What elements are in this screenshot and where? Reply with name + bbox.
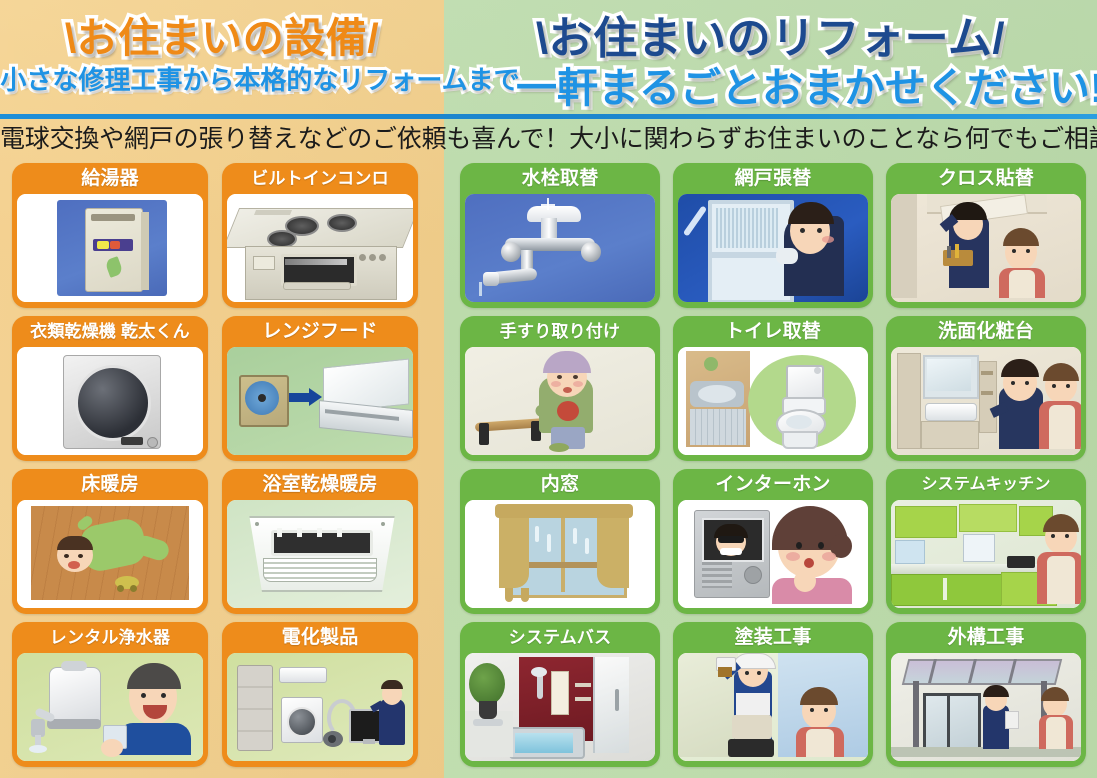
equipment-card-grid: 給湯器 ビルトインコンロ: [12, 163, 432, 767]
card-title: 床暖房: [12, 469, 208, 500]
card-image: [465, 347, 655, 455]
card-painting-work[interactable]: 塗装工事: [673, 622, 873, 767]
card-title: 給湯器: [12, 163, 208, 194]
handrail-art: [465, 347, 655, 455]
card-image: [678, 500, 868, 608]
home-appliances-art: [227, 653, 413, 761]
card-builtin-stove[interactable]: ビルトインコンロ: [222, 163, 418, 308]
header: \お住まいの設備/ \お住まいのリフォーム/ 小さな修理工事から本格的なリフォー…: [0, 0, 1097, 120]
card-image: [678, 347, 868, 455]
card-image: [17, 347, 203, 455]
card-title: 洗面化粧台: [886, 316, 1086, 347]
card-water-heater[interactable]: 給湯器: [12, 163, 208, 308]
vanity-art: [891, 347, 1081, 455]
card-bath-dryer[interactable]: 浴室乾燥暖房: [222, 469, 418, 614]
card-image: [17, 194, 203, 302]
card-title: システムキッチン: [886, 469, 1086, 500]
inner-window-art: [465, 500, 655, 608]
card-title: システムバス: [460, 622, 660, 653]
card-image: [891, 653, 1081, 761]
card-title: 浴室乾燥暖房: [222, 469, 418, 500]
reform-card-grid: 水栓取替 網戸張替: [460, 163, 1086, 767]
card-title: 外構工事: [886, 622, 1086, 653]
card-title: 手すり取り付け: [460, 316, 660, 347]
card-handrail-install[interactable]: 手すり取り付け: [460, 316, 660, 461]
card-title: インターホン: [673, 469, 873, 500]
floor-heating-art: [17, 500, 203, 608]
system-bath-art: [465, 653, 655, 761]
card-image: [678, 653, 868, 761]
card-image: [465, 500, 655, 608]
card-title: クロス貼替: [886, 163, 1086, 194]
right-subheadline: 一軒まるごとおまかせください!: [516, 54, 1097, 114]
card-title: 網戸張替: [673, 163, 873, 194]
card-title: トイレ取替: [673, 316, 873, 347]
card-floor-heating[interactable]: 床暖房: [12, 469, 208, 614]
header-caption: 電球交換や網戸の張り替えなどのご依頼も喜んで！大小に関わらずお住まいのことなら何…: [0, 120, 1097, 158]
card-image: [465, 194, 655, 302]
card-image: [17, 500, 203, 608]
system-kitchen-art: [891, 500, 1081, 608]
clothes-dryer-art: [17, 347, 203, 455]
card-exterior-work[interactable]: 外構工事: [886, 622, 1086, 767]
card-image: [891, 194, 1081, 302]
card-home-appliances[interactable]: 電化製品: [222, 622, 418, 767]
left-subheadline: 小さな修理工事から本格的なリフォームまで: [0, 60, 520, 97]
card-faucet-replacement[interactable]: 水栓取替: [460, 163, 660, 308]
flyer-page: \お住まいの設備/ \お住まいのリフォーム/ 小さな修理工事から本格的なリフォー…: [0, 0, 1097, 778]
card-image: [227, 194, 413, 302]
screen-door-art: [678, 194, 868, 302]
painting-work-art: [678, 653, 868, 761]
range-hood-art: [227, 347, 413, 455]
card-image: [227, 347, 413, 455]
card-title: レンジフード: [222, 316, 418, 347]
faucet-art: [465, 194, 655, 302]
card-image: [465, 653, 655, 761]
card-title: ビルトインコンロ: [222, 163, 418, 194]
card-image: [227, 500, 413, 608]
card-wallpaper-replacement[interactable]: クロス貼替: [886, 163, 1086, 308]
card-image: [678, 194, 868, 302]
card-image: [227, 653, 413, 761]
card-toilet-replacement[interactable]: トイレ取替: [673, 316, 873, 461]
left-headline: \お住まいの設備/: [0, 4, 444, 64]
bath-dryer-art: [227, 500, 413, 608]
card-water-purifier[interactable]: レンタル浄水器: [12, 622, 208, 767]
card-title: レンタル浄水器: [12, 622, 208, 653]
wallpaper-art: [891, 194, 1081, 302]
card-range-hood[interactable]: レンジフード: [222, 316, 418, 461]
toilet-art: [678, 347, 868, 455]
header-divider-rule: [0, 114, 1097, 119]
card-image: [17, 653, 203, 761]
card-inner-window[interactable]: 内窓: [460, 469, 660, 614]
card-system-kitchen[interactable]: システムキッチン: [886, 469, 1086, 614]
card-vanity-unit[interactable]: 洗面化粧台: [886, 316, 1086, 461]
card-system-bath[interactable]: システムバス: [460, 622, 660, 767]
card-intercom[interactable]: インターホン: [673, 469, 873, 614]
card-screen-door-replacement[interactable]: 網戸張替: [673, 163, 873, 308]
card-image: [891, 500, 1081, 608]
card-title: 電化製品: [222, 622, 418, 653]
card-title: 水栓取替: [460, 163, 660, 194]
water-heater-art: [17, 194, 203, 302]
intercom-art: [678, 500, 868, 608]
card-title: 衣類乾燥機 乾太くん: [12, 316, 208, 347]
water-purifier-art: [17, 653, 203, 761]
card-title: 内窓: [460, 469, 660, 500]
card-image: [891, 347, 1081, 455]
exterior-work-art: [891, 653, 1081, 761]
card-clothes-dryer[interactable]: 衣類乾燥機 乾太くん: [12, 316, 208, 461]
card-title: 塗装工事: [673, 622, 873, 653]
builtin-stove-art: [227, 194, 413, 302]
